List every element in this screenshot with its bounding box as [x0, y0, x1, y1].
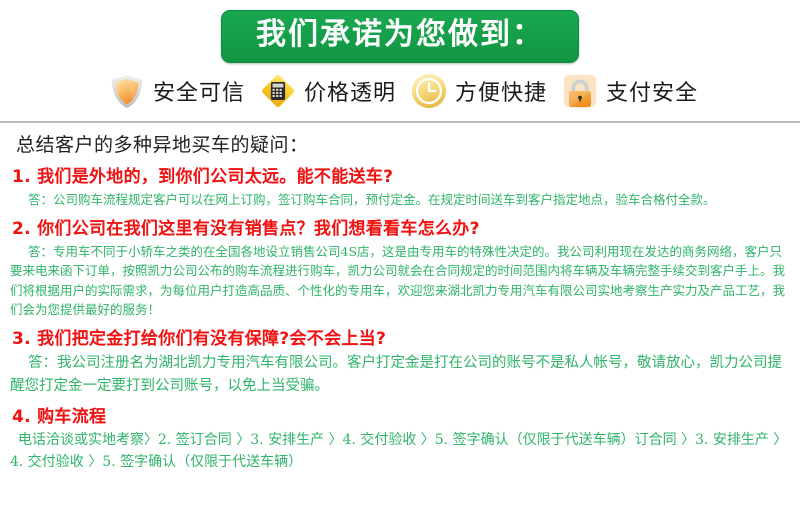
- feature-label-price: 价格透明: [304, 75, 396, 107]
- feature-item-payment: 支付安全: [561, 72, 698, 110]
- faq-question-2: 2. 你们公司在我们这里有没有销售点？我们想看看车怎么办?: [12, 214, 794, 239]
- lock-icon: [561, 72, 599, 110]
- shield-icon: [108, 72, 146, 110]
- feature-item-security: 安全可信: [108, 72, 245, 110]
- faq-answer-3: 答：我公司注册名为湖北凯力专用汽车有限公司。客户打定金是打在公司的账号不是私人帐…: [10, 352, 794, 397]
- feature-label-convenience: 方便快捷: [455, 75, 547, 107]
- feature-row: 安全可信: [0, 72, 800, 110]
- feature-item-price: 价格透明: [259, 72, 396, 110]
- feature-label-payment: 支付安全: [606, 75, 698, 107]
- faq-question-1: 1. 我们是外地的，到你们公司太远。能不能送车?: [12, 162, 794, 187]
- header-divider: [0, 121, 800, 123]
- promise-banner: 我们承诺为您做到：: [221, 10, 579, 63]
- faq-question-4: 4. 购车流程: [12, 402, 794, 427]
- faq-answer-2: 答：专用车不同于小轿车之类的在全国各地设立销售公司4S店，这是由专用车的特殊性决…: [10, 242, 794, 320]
- calculator-diamond-icon: [259, 72, 297, 110]
- section-title: 总结客户的多种异地买车的疑问：: [16, 130, 794, 157]
- faq-question-3: 3. 我们把定金打给你们有没有保障?会不会上当?: [12, 324, 794, 349]
- purchase-flow-steps: 电话洽谈或实地考察〉2. 签订合同 〉3. 安排生产 〉4. 交付验收 〉5. …: [10, 430, 794, 473]
- feature-label-security: 安全可信: [153, 75, 245, 107]
- faq-answer-1: 答：公司购车流程规定客户可以在网上订购，签订购车合同，预付定金。在规定时间送车到…: [10, 190, 794, 209]
- faq-content: 总结客户的多种异地买车的疑问： 1. 我们是外地的，到你们公司太远。能不能送车?…: [0, 130, 800, 474]
- feature-item-convenience: 方便快捷: [410, 72, 547, 110]
- clock-icon: [410, 72, 448, 110]
- banner-container: 我们承诺为您做到：: [0, 0, 800, 63]
